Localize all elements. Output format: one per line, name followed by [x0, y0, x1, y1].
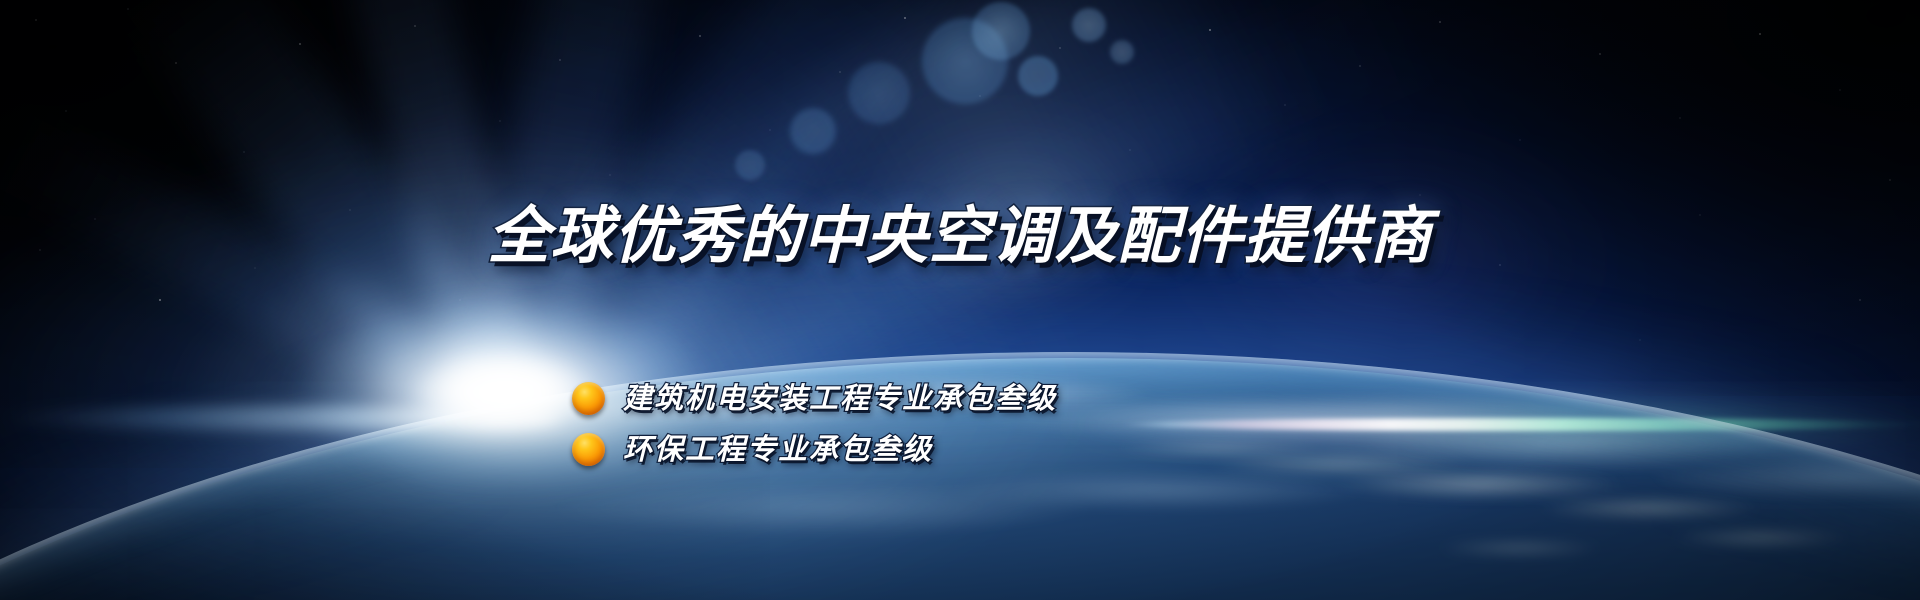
hero-banner: 全球优秀的中央空调及配件提供商 建筑机电安装工程专业承包叁级 环保工程专业承包叁…	[0, 0, 1920, 600]
list-item-label: 建筑机电安装工程专业承包叁级	[623, 384, 1057, 413]
orange-dot-icon	[572, 382, 605, 415]
banner-content: 全球优秀的中央空调及配件提供商 建筑机电安装工程专业承包叁级 环保工程专业承包叁…	[0, 0, 1920, 600]
list-item: 环保工程专业承包叁级	[572, 433, 1057, 466]
page-title: 全球优秀的中央空调及配件提供商	[0, 205, 1920, 267]
orange-dot-icon	[572, 433, 605, 466]
list-item-label: 环保工程专业承包叁级	[623, 435, 933, 464]
feature-list: 建筑机电安装工程专业承包叁级 环保工程专业承包叁级	[572, 382, 1057, 466]
list-item: 建筑机电安装工程专业承包叁级	[572, 382, 1057, 415]
